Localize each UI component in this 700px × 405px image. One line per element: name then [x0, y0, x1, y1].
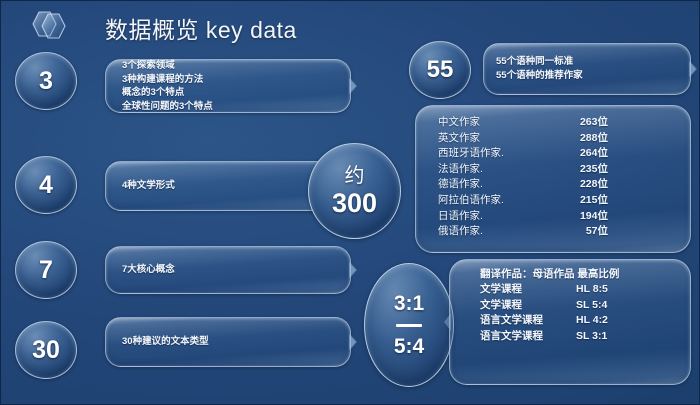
info-pill-3[interactable]: 3个探索领域 3种构建课程的方法 概念的3个特点 全球性问题的3个特点	[105, 59, 351, 113]
table-row: 德语作家. 228位	[438, 177, 690, 193]
row-label: 文学课程	[480, 298, 576, 314]
languages-pill-text: 55个语种同一标准 55个语种的推荐作家	[484, 55, 690, 83]
translation-ratio-panel[interactable]: 翻译作品：母语作品 最高比例 文学课程 HL 8:5 文学课程 SL 5:4 语…	[449, 259, 691, 385]
languages-pill[interactable]: 55个语种同一标准 55个语种的推荐作家	[483, 43, 691, 95]
hexagon-pair-logo-icon	[23, 9, 73, 43]
row-label: 语言文学课程	[480, 313, 576, 329]
translation-panel-heading: 翻译作品：母语作品 最高比例	[480, 267, 630, 282]
table-row: 法语作家. 235位	[438, 162, 690, 178]
row-label: 日语作家.	[438, 209, 550, 225]
table-row: 日语作家. 194位	[438, 209, 690, 225]
number-badge-label: 55	[427, 56, 454, 84]
row-value: 228位	[550, 177, 608, 193]
row-label: 语言文学课程	[480, 329, 576, 345]
table-row: 文学课程 HL 8:5	[480, 282, 690, 298]
number-badge-7[interactable]: 7	[15, 241, 77, 299]
row-value: SL 3:1	[576, 329, 634, 345]
row-label: 文学课程	[480, 282, 576, 298]
row-label: 法语作家.	[438, 162, 550, 178]
row-label: 英文作家	[438, 131, 550, 147]
row-value: SL 5:4	[576, 298, 634, 314]
table-row: 俄语作家. 57位	[438, 224, 690, 240]
row-label: 俄语作家.	[438, 224, 550, 240]
row-value: 215位	[550, 193, 608, 209]
row-value: 235位	[550, 162, 608, 178]
info-pill-text: 30种建议的文本类型	[106, 335, 350, 349]
table-row: 英文作家 288位	[438, 131, 690, 147]
row-value: 263位	[550, 115, 608, 131]
table-row: 语言文学课程 SL 3:1	[480, 329, 690, 345]
ratio-top-value: 3:1	[394, 291, 424, 317]
table-row: 语言文学课程 HL 4:2	[480, 313, 690, 329]
number-badge-55[interactable]: 55	[409, 41, 471, 99]
row-label: 阿拉伯语作家.	[438, 193, 550, 209]
number-badge-label: 7	[39, 256, 53, 285]
ratio-bottom-value: 5:4	[394, 334, 424, 360]
row-label: 德语作家.	[438, 177, 550, 193]
row-label: 西班牙语作家.	[438, 146, 550, 162]
approx-300-circle[interactable]: 约 300	[308, 143, 401, 239]
approx-value: 300	[332, 188, 377, 218]
row-value: HL 8:5	[576, 282, 634, 298]
number-badge-4[interactable]: 4	[15, 156, 77, 214]
ratio-circle[interactable]: 3:1 5:4	[364, 263, 454, 387]
number-badge-label: 4	[39, 171, 53, 200]
table-row: 阿拉伯语作家. 215位	[438, 193, 690, 209]
number-badge-30[interactable]: 30	[15, 321, 77, 379]
row-value: 264位	[550, 146, 608, 162]
approx-label: 约	[345, 164, 365, 188]
row-value: HL 4:2	[576, 313, 634, 329]
authors-by-language-panel[interactable]: 中文作家 263位 英文作家 288位 西班牙语作家. 264位 法语作家. 2…	[415, 105, 691, 253]
slide-canvas: 数据概览 key data 3 3个探索领域 3种构建课程的方法 概念的3个特点…	[0, 0, 700, 405]
page-title: 数据概览 key data	[105, 11, 297, 45]
table-row: 文学课程 SL 5:4	[480, 298, 690, 314]
info-pill-7[interactable]: 7大核心概念	[105, 246, 351, 294]
row-label: 中文作家	[438, 115, 550, 131]
number-badge-label: 3	[39, 67, 53, 96]
row-value: 57位	[550, 224, 608, 240]
table-row: 中文作家 263位	[438, 115, 690, 131]
info-pill-text: 7大核心概念	[106, 263, 350, 277]
table-row: 西班牙语作家. 264位	[438, 146, 690, 162]
number-badge-label: 30	[32, 336, 60, 365]
info-pill-30[interactable]: 30种建议的文本类型	[105, 317, 351, 367]
ratio-divider	[396, 324, 422, 327]
row-value: 194位	[550, 209, 608, 225]
number-badge-3[interactable]: 3	[15, 52, 77, 110]
info-pill-text: 3个探索领域 3种构建课程的方法 概念的3个特点 全球性问题的3个特点	[106, 59, 350, 113]
row-value: 288位	[550, 131, 608, 147]
